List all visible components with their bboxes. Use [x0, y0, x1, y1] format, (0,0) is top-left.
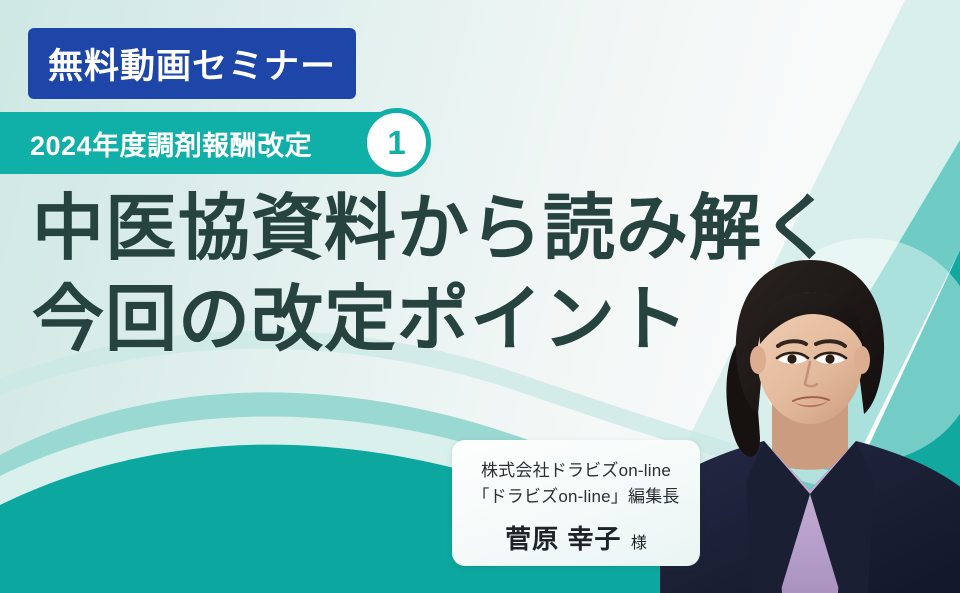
speaker-honorific: 様 — [631, 535, 647, 552]
speaker-name-row: 菅原 幸子 様 — [452, 519, 700, 556]
series-band-label: 2024年度調剤報酬改定 — [0, 124, 312, 163]
speaker-role: 「ドラビズon-line」編集長 — [452, 484, 700, 510]
speaker-name: 菅原 幸子 — [505, 524, 621, 554]
speaker-company: 株式会社ドラビズon-line — [452, 458, 700, 484]
speaker-portrait-photo — [660, 252, 960, 593]
speaker-info-card: 株式会社ドラビズon-line 「ドラビズon-line」編集長 菅原 幸子 様 — [452, 440, 700, 566]
free-video-seminar-badge: 無料動画セミナー — [28, 28, 356, 99]
series-band: 2024年度調剤報酬改定 — [0, 112, 392, 174]
series-number-badge: 1 — [362, 108, 431, 177]
seminar-banner: 無料動画セミナー 2024年度調剤報酬改定 1 中医協資料から読み解く 今回の改… — [0, 0, 960, 593]
